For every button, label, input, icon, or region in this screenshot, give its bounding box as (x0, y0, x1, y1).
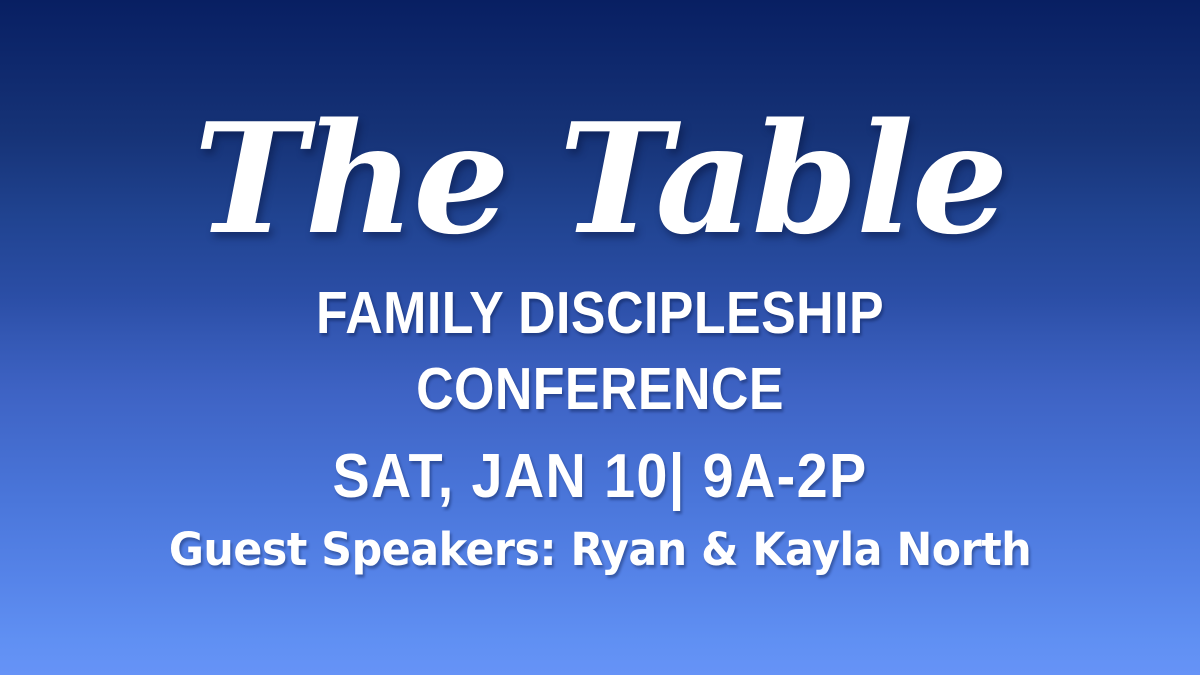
event-guest-speakers: Guest Speakers: Ryan & Kayla North (30, 527, 1170, 572)
script-title-text: The Table (193, 89, 1006, 268)
event-datetime: SAT, JAN 10| 9A-2P (60, 446, 1140, 508)
poster-content: The Table FAMILY DISCIPLESHIP CONFERENCE… (0, 0, 1200, 675)
subtitle-line-conference: CONFERENCE (72, 360, 1128, 419)
event-promo-poster: The Table FAMILY DISCIPLESHIP CONFERENCE… (0, 0, 1200, 675)
script-title-artwork: The Table (270, 108, 930, 278)
subtitle-line-family-discipleship: FAMILY DISCIPLESHIP (72, 284, 1128, 343)
event-script-title: The Table (0, 108, 1200, 278)
